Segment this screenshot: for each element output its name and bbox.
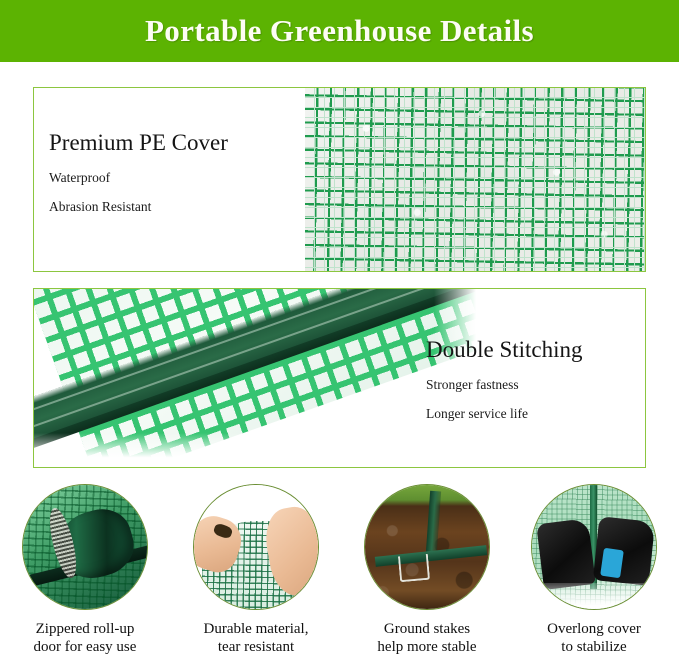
panel-double-stitching: Double Stitching Stronger fastness Longe…	[33, 288, 646, 468]
feature-zippered-roll-up-door: Zippered roll-up door for easy use	[0, 484, 170, 657]
panel-bullet-longer-service-life: Longer service life	[426, 406, 583, 422]
feature-circle-sandbag-weights	[531, 484, 657, 610]
feature-circle-ground-stake-in-soil	[364, 484, 490, 610]
feature-overlong-cover: Overlong cover to stabilize	[509, 484, 679, 657]
hem-photo-fade-bottom	[34, 433, 494, 467]
panel-heading-double-stitching: Double Stitching	[426, 337, 583, 363]
feature-row: Zippered roll-up door for easy use Durab…	[0, 484, 679, 659]
panel-premium-pe-cover: Premium PE Cover Waterproof Abrasion Res…	[33, 87, 646, 272]
hands-stretching-mesh-photo	[194, 485, 318, 609]
rolled-up-zipper-door-photo	[23, 485, 147, 609]
feature-durable-material: Durable material, tear resistant	[171, 484, 341, 657]
feature-caption-durable-material: Durable material, tear resistant	[171, 620, 341, 657]
feature-caption-ground-stakes: Ground stakes help more stable	[342, 620, 512, 657]
header-banner: Portable Greenhouse Details	[0, 0, 679, 62]
panel-bullet-waterproof: Waterproof	[49, 170, 228, 186]
blue-accent-strap	[600, 548, 624, 579]
ground-fade	[532, 583, 656, 609]
cover-text-block: Premium PE Cover Waterproof Abrasion Res…	[49, 130, 228, 228]
stitch-text-block: Double Stitching Stronger fastness Longe…	[426, 337, 583, 435]
feature-circle-hands-stretching-mesh	[193, 484, 319, 610]
metal-ground-stake	[398, 554, 430, 583]
feature-caption-overlong-cover: Overlong cover to stabilize	[509, 620, 679, 657]
pe-mesh-fabric-photo	[305, 88, 645, 271]
panel-heading-premium-pe-cover: Premium PE Cover	[49, 130, 228, 156]
page-title: Portable Greenhouse Details	[145, 13, 534, 49]
sandbag-weights-photo	[532, 485, 656, 609]
double-stitched-hem-photo	[34, 289, 494, 467]
panel-bullet-abrasion-resistant: Abrasion Resistant	[49, 199, 228, 215]
sandbag-left	[536, 518, 596, 590]
ground-stake-in-soil-photo	[365, 485, 489, 609]
feature-ground-stakes: Ground stakes help more stable	[342, 484, 512, 657]
panel-bullet-stronger-fastness: Stronger fastness	[426, 377, 583, 393]
feature-caption-zippered-roll-up-door: Zippered roll-up door for easy use	[0, 620, 170, 657]
feature-circle-rolled-up-zipper-door	[22, 484, 148, 610]
